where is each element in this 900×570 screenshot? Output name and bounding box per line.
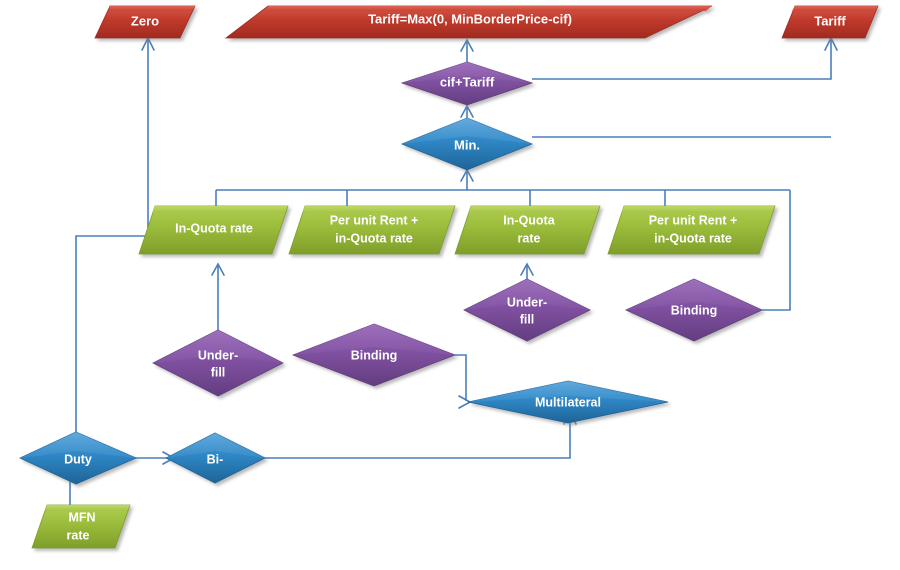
- edge-duty-left-riser: [76, 236, 148, 450]
- zero-label: Zero: [131, 13, 159, 28]
- underfill-1-label-line1: Under-: [198, 348, 238, 362]
- underfill-2-label-line1: Under-: [507, 295, 547, 309]
- node-underfill-2[interactable]: [464, 279, 590, 341]
- tariff-highlight: [792, 6, 878, 11]
- duty-label: Duty: [64, 452, 92, 466]
- node-underfill-1[interactable]: [153, 330, 283, 396]
- bi-label: Bi-: [207, 452, 224, 466]
- tariff-label: Tariff: [814, 13, 846, 28]
- in-quota-rate-1-highlight: [152, 206, 288, 213]
- tariff-formula-label: Tariff=Max(0, MinBorderPrice-cif): [368, 11, 572, 26]
- underfill-1-label-line2: fill: [211, 365, 226, 379]
- per-unit-rent-1-label-line2: in-Quota rate: [335, 231, 413, 245]
- per-unit-rent-2-highlight: [621, 206, 775, 213]
- in-quota-rate-2-label-line1: In-Quota: [503, 213, 555, 227]
- flowchart-canvas: Zero Tariff=Max(0, MinBorderPrice-cif) T…: [0, 0, 900, 570]
- tariff-formula-highlight: [266, 6, 712, 11]
- mfn-rate-label-line2: rate: [67, 528, 90, 542]
- per-unit-rent-1-highlight: [302, 206, 455, 213]
- per-unit-rent-2-label-line1: Per unit Rent +: [649, 213, 738, 227]
- in-quota-rate-2-label-line2: rate: [518, 231, 541, 245]
- zero-highlight: [108, 6, 195, 11]
- per-unit-rent-2-label-line2: in-Quota rate: [654, 231, 732, 245]
- cif-plus-tariff-label: cif+Tariff: [440, 74, 495, 89]
- binding-1-label: Binding: [351, 348, 398, 362]
- edge-ciftariff-to-tariff: [532, 40, 831, 79]
- edge-binding1-to-multilateral: [455, 355, 466, 401]
- mfn-rate-label-line1: MFN: [68, 510, 95, 524]
- underfill-2-label-line2: fill: [520, 312, 535, 326]
- per-unit-rent-1-label-line1: Per unit Rent +: [330, 213, 419, 227]
- binding-2-label: Binding: [671, 303, 718, 317]
- in-quota-rate-2-highlight: [468, 206, 600, 213]
- in-quota-rate-1-label: In-Quota rate: [175, 221, 253, 235]
- connector-layer: [64, 38, 837, 506]
- min-label: Min.: [454, 137, 480, 152]
- multilateral-label: Multilateral: [535, 395, 601, 409]
- edge-bi-to-multilateral: [243, 415, 570, 458]
